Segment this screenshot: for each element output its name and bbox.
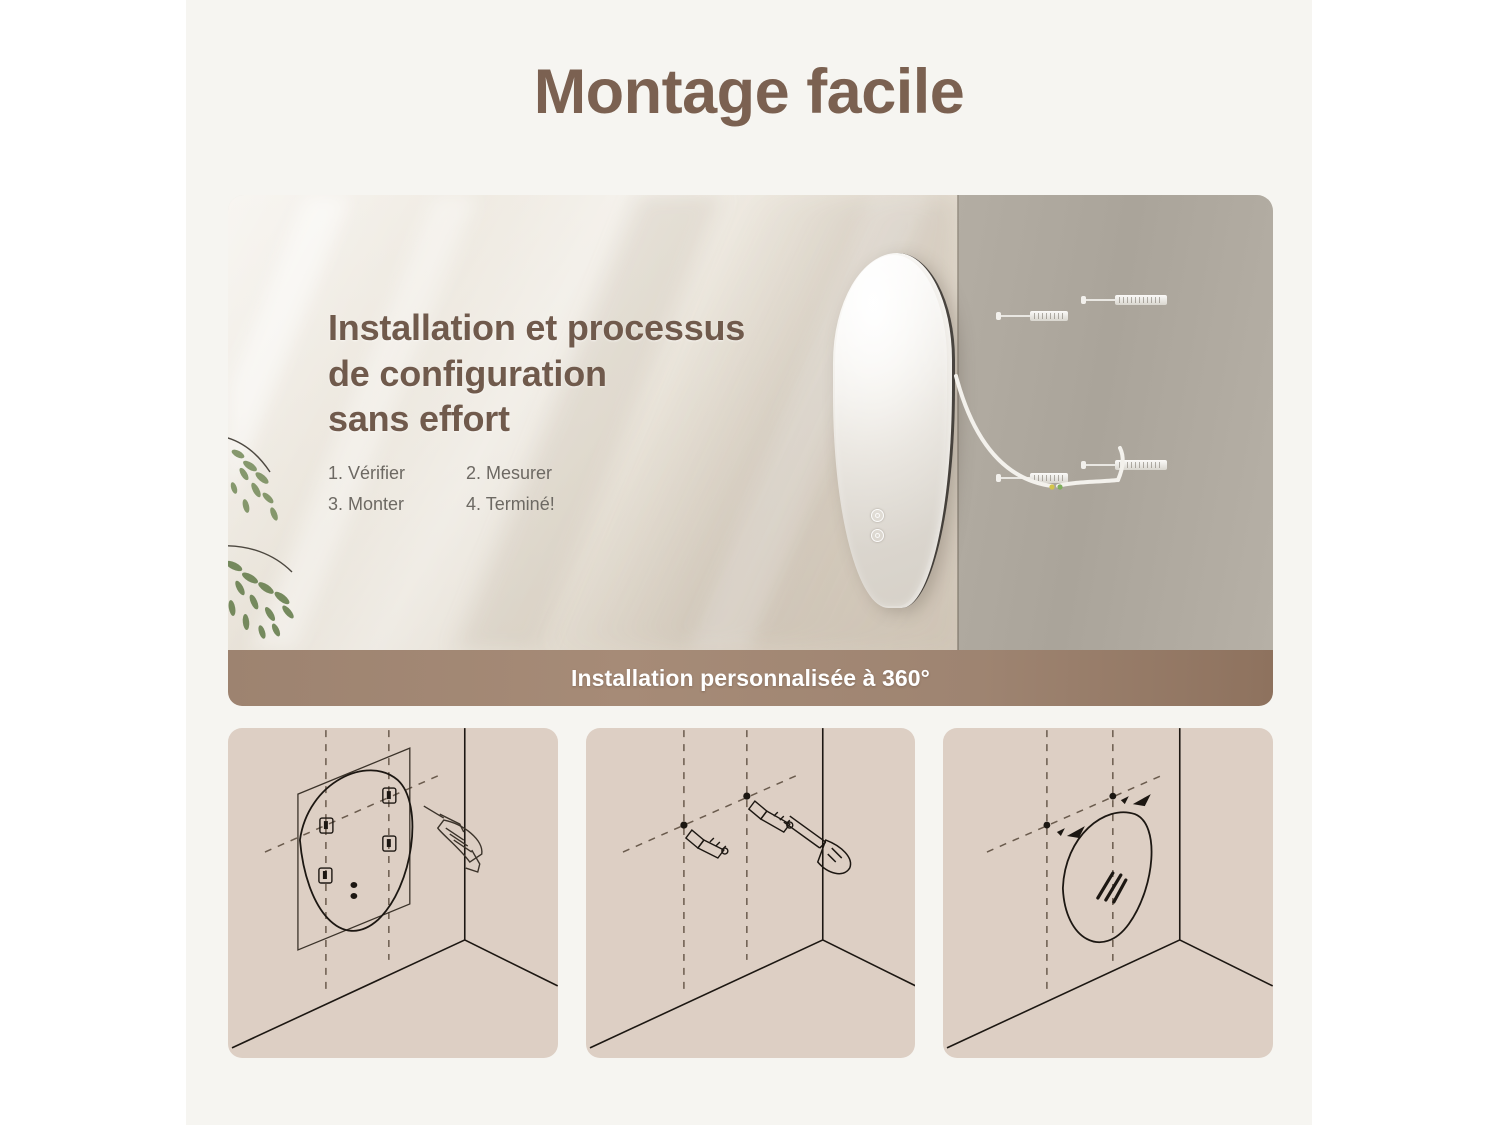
hero-step-2: 2. Mesurer — [466, 463, 828, 485]
hero-heading: Installation et processus de configurati… — [328, 305, 828, 442]
banner-text: Installation personnalisée à 360° — [571, 665, 930, 692]
hero-step-list: 1. Vérifier 2. Mesurer 3. Monter 4. Term… — [328, 463, 828, 515]
hero-text-block: Installation et processus de configurati… — [328, 305, 828, 515]
page-title: Montage facile — [186, 56, 1312, 128]
screw-icon — [1000, 311, 1068, 321]
hero-heading-line-1: Installation et processus — [328, 305, 828, 351]
mirror-hang-icon — [943, 728, 1273, 1058]
hero-step-4: 4. Terminé! — [466, 494, 828, 516]
hero-step-3: 3. Monter — [328, 494, 446, 516]
step-card-insert-anchors — [586, 728, 916, 1058]
product-infographic-page: Montage facile — [0, 0, 1500, 1125]
step-cards — [228, 728, 1273, 1058]
touch-control-icon — [871, 509, 887, 547]
step-card-hang-mirror — [943, 728, 1273, 1058]
screw-icon — [1085, 460, 1167, 470]
wall-right — [958, 195, 1273, 650]
hero-image: Installation et processus de configurati… — [228, 195, 1273, 650]
screw-icon — [1000, 473, 1068, 483]
hero-heading-line-3: sans effort — [328, 396, 828, 442]
step-card-drill-template — [228, 728, 558, 1058]
screw-icon — [1085, 295, 1167, 305]
screwdriver-icon — [586, 728, 916, 1058]
wall-corner-edge — [957, 195, 959, 650]
drill-icon — [228, 728, 558, 1058]
installation-banner: Installation personnalisée à 360° — [228, 650, 1273, 706]
hero-heading-line-2: de configuration — [328, 351, 828, 397]
hero-step-1: 1. Vérifier — [328, 463, 446, 485]
